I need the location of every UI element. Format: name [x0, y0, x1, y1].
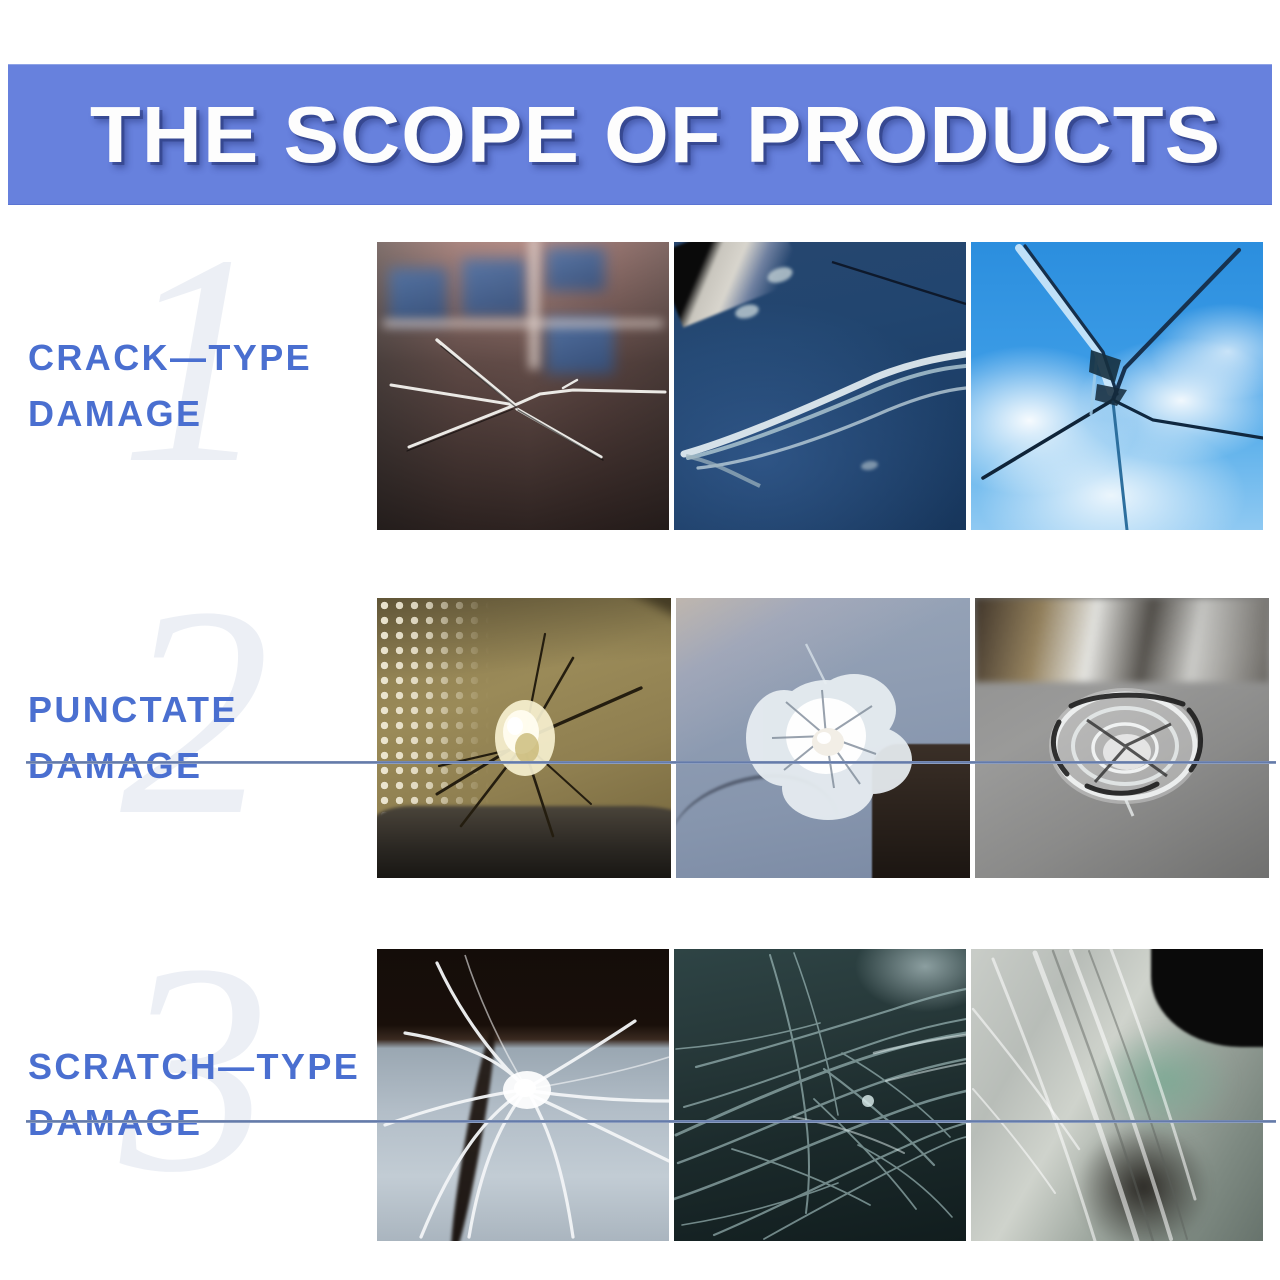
crack-lines-overlay [971, 242, 1263, 530]
chip-overlay [676, 598, 970, 878]
crack-lines-overlay [674, 242, 966, 530]
section-label: PUNCTATE DAMAGE [28, 682, 238, 794]
section-label-line2: DAMAGE [28, 738, 238, 794]
section-divider [26, 761, 1276, 764]
chip-and-crack-overlay [377, 598, 671, 878]
damage-photo[interactable] [975, 598, 1269, 878]
damage-photo[interactable] [377, 598, 671, 878]
sections-container: 1 CRACK—TYPE DAMAGE [0, 205, 1280, 1280]
damage-photo[interactable] [674, 949, 966, 1241]
section-divider [26, 1120, 1276, 1123]
damage-photo[interactable] [676, 598, 970, 878]
page-title: THE SCOPE OF PRODUCTS [59, 95, 1221, 175]
section-label-column: 1 CRACK—TYPE DAMAGE [0, 221, 377, 551]
section-label: SCRATCH—TYPE DAMAGE [28, 1039, 360, 1151]
scratch-lines-overlay [971, 949, 1263, 1241]
section-label: CRACK—TYPE DAMAGE [28, 330, 312, 442]
crack-lines-overlay [377, 242, 669, 530]
section-row-crack-type: 1 CRACK—TYPE DAMAGE [0, 221, 1280, 551]
crack-lines-overlay [377, 949, 669, 1241]
damage-photo[interactable] [971, 949, 1263, 1241]
section-photo-grid [377, 949, 1263, 1241]
section-label-line1: SCRATCH—TYPE [28, 1039, 360, 1095]
damage-photo[interactable] [377, 949, 669, 1241]
section-label-line2: DAMAGE [28, 386, 312, 442]
section-photo-grid [377, 598, 1269, 878]
section-row-scratch-type: 3 SCRATCH—TYPE DAMAGE [0, 930, 1280, 1260]
scratch-lines-overlay [674, 949, 966, 1241]
section-row-punctate: 2 PUNCTATE DAMAGE [0, 573, 1280, 903]
section-label-line1: CRACK—TYPE [28, 330, 312, 386]
section-label-column: 3 SCRATCH—TYPE DAMAGE [0, 930, 377, 1260]
damage-photo[interactable] [377, 242, 669, 530]
damage-photo[interactable] [674, 242, 966, 530]
section-label-line1: PUNCTATE [28, 682, 238, 738]
header-banner: THE SCOPE OF PRODUCTS [8, 64, 1272, 205]
chip-overlay [975, 598, 1269, 878]
section-label-column: 2 PUNCTATE DAMAGE [0, 573, 377, 903]
damage-photo[interactable] [971, 242, 1263, 530]
section-photo-grid [377, 242, 1263, 530]
